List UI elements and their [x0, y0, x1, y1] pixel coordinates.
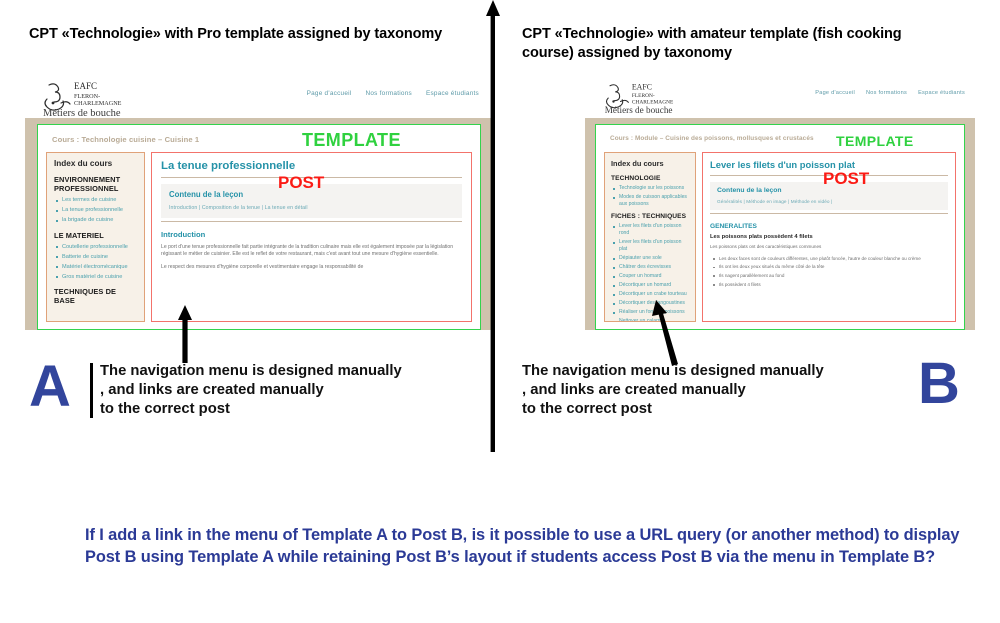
browser-mock-b: EAFC FLERON- CHARLEMAGNE Métiers de bouc…	[585, 76, 975, 336]
course-bar-b: Cours : Module – Cuisine des poissons, m…	[604, 132, 956, 152]
post-bullet-list: Les deux faces sont de couleurs différen…	[710, 256, 948, 289]
lesson-anchor-links[interactable]: Introduction | Composition de la tenue |…	[169, 205, 454, 211]
course-index-sidebar-b[interactable]: Index du cours TECHNOLOGIE Technologie s…	[604, 152, 696, 322]
sidebar-link[interactable]: Matériel électromécanique	[56, 264, 138, 272]
eafc-logo-icon: EAFC FLERON- CHARLEMAGNE Métiers de bouc…	[603, 80, 708, 116]
svg-text:FLERON-: FLERON-	[632, 93, 655, 99]
callout-accent-bar	[90, 363, 93, 418]
site-body-b: Cours : Module – Cuisine des poissons, m…	[585, 118, 975, 330]
sidebar-link[interactable]: Batterie de cuisine	[56, 254, 138, 262]
panel-a-heading: CPT «Technologie» with Pro template assi…	[29, 25, 459, 44]
post-bullet: Ils ont les deux yeux situés du même côt…	[713, 264, 948, 271]
site-header-b: EAFC FLERON- CHARLEMAGNE Métiers de bouc…	[585, 76, 975, 118]
course-index-sidebar-a[interactable]: Index du cours ENVIRONNEMENT PROFESSIONN…	[46, 152, 145, 322]
callout-text-a: The navigation menu is designed manually…	[100, 362, 480, 419]
sidebar-link[interactable]: Couper un homard	[613, 273, 690, 280]
sidebar-group-list[interactable]: Coutellerie professionnelle Batterie de …	[56, 244, 138, 282]
post-content-b: Lever les filets d'un poisson plat POST …	[702, 152, 956, 322]
nav-link-students[interactable]: Espace étudiants	[426, 90, 479, 97]
nav-link-students[interactable]: Espace étudiants	[918, 90, 965, 96]
slide-canvas: CPT «Technologie» with Pro template assi…	[0, 0, 1000, 623]
callout-text-b: The navigation menu is designed manually…	[522, 362, 902, 419]
callout-b-body: The navigation menu is designed manually…	[522, 363, 824, 417]
divider	[710, 213, 948, 214]
svg-text:Métiers de bouche: Métiers de bouche	[605, 105, 673, 115]
nav-link-home[interactable]: Page d'accueil	[307, 90, 352, 97]
site-body-a: Cours : Technologie cuisine – Cuisine 1 …	[25, 118, 493, 330]
sidebar-link[interactable]: La tenue professionnelle	[56, 207, 138, 215]
svg-text:EAFC: EAFC	[632, 82, 652, 91]
course-title-b: Cours : Module – Cuisine des poissons, m…	[610, 135, 814, 142]
nav-link-trainings[interactable]: Nos formations	[365, 90, 411, 97]
post-bullet: Ils nagent parallèlement au fond	[713, 273, 948, 280]
callout-arrow-b-icon	[648, 300, 692, 366]
panel-b-heading: CPT «Technologie» with amateur template …	[522, 25, 947, 63]
sidebar-link[interactable]: Technologie sur les poissons	[613, 185, 690, 192]
site-topnav-a[interactable]: Page d'accueil Nos formations Espace étu…	[307, 90, 479, 97]
sidebar-title-b: Index du cours	[611, 159, 690, 168]
sidebar-group-title: TECHNOLOGIE	[611, 175, 690, 182]
sidebar-link[interactable]: Décortiquer un crabe tourteau	[613, 291, 690, 298]
sidebar-group-title: LE MATERIEL	[54, 231, 138, 240]
post-paragraph: Le respect des mesures d'hygiène corpore…	[161, 264, 462, 271]
sidebar-group-list[interactable]: Technologie sur les poissons Modes de cu…	[613, 185, 690, 208]
sidebar-group-list[interactable]: Les termes de cuisine La tenue professio…	[56, 197, 138, 225]
site-header-a: EAFC FLERON- CHARLEMAGNE Métiers de bouc…	[25, 76, 493, 118]
post-bullet: Ils possèdent 4 filets	[713, 282, 948, 289]
template-frame-a: Cours : Technologie cuisine – Cuisine 1 …	[37, 124, 481, 330]
sidebar-link[interactable]: la brigade de cuisine	[56, 217, 138, 225]
post-title-a: La tenue professionnelle	[161, 160, 462, 172]
question-text: If I add a link in the menu of Template …	[85, 524, 965, 568]
post-annotation-b: POST	[823, 170, 869, 187]
post-section-subheading: Les poissons plats possèdent 4 filets	[710, 234, 948, 240]
label-letter-a: A	[29, 358, 71, 416]
eafc-logo-icon: EAFC FLERON- CHARLEMAGNE Métiers de bouc…	[41, 79, 161, 119]
sidebar-link[interactable]: Les termes de cuisine	[56, 197, 138, 205]
sidebar-group-title: FICHES : TECHNIQUES	[611, 213, 690, 220]
nav-link-home[interactable]: Page d'accueil	[815, 90, 855, 96]
template-annotation-a: TEMPLATE	[302, 131, 401, 149]
sidebar-group-title: ENVIRONNEMENT PROFESSIONNEL	[54, 175, 138, 193]
svg-text:EAFC: EAFC	[74, 81, 97, 91]
sidebar-group-title: TECHNIQUES DE BASE	[54, 287, 138, 305]
post-section-heading: Introduction	[161, 230, 462, 239]
sidebar-link[interactable]: Modes de cuisson applicables aux poisson…	[613, 194, 690, 208]
sidebar-title-a: Index du cours	[54, 159, 138, 168]
course-bar-a: Cours : Technologie cuisine – Cuisine 1 …	[46, 132, 472, 152]
post-paragraph: Le port d'une tenue professionnelle fait…	[161, 244, 462, 259]
post-paragraph: Les poissons plats ont des caractéristiq…	[710, 244, 948, 251]
callout-a-body: The navigation menu is designed manually…	[100, 363, 402, 417]
nav-link-trainings[interactable]: Nos formations	[866, 90, 907, 96]
post-bullet: Les deux faces sont de couleurs différen…	[713, 256, 948, 263]
template-annotation-b: TEMPLATE	[836, 132, 914, 150]
svg-text:CHARLEMAGNE: CHARLEMAGNE	[74, 100, 122, 107]
divider	[161, 221, 462, 222]
sidebar-link[interactable]: Décortiquer un homard	[613, 282, 690, 289]
sidebar-link[interactable]: Gros matériel de cuisine	[56, 274, 138, 282]
page-a: Cours : Technologie cuisine – Cuisine 1 …	[37, 124, 481, 330]
callout-arrow-a-icon	[176, 305, 194, 363]
lesson-anchor-links[interactable]: Généralités | Méthode en image | Méthode…	[717, 199, 941, 204]
sidebar-link[interactable]: Lever les filets d'un poisson rond	[613, 223, 690, 237]
site-topnav-b[interactable]: Page d'accueil Nos formations Espace étu…	[815, 90, 965, 96]
sidebar-link[interactable]: Dépiauter une sole	[613, 255, 690, 262]
sidebar-link[interactable]: Coutellerie professionnelle	[56, 244, 138, 252]
svg-text:FLERON-: FLERON-	[74, 93, 100, 100]
browser-mock-a: EAFC FLERON- CHARLEMAGNE Métiers de bouc…	[25, 76, 493, 336]
lesson-box-title: Contenu de la leçon	[717, 187, 941, 194]
course-title-a: Cours : Technologie cuisine – Cuisine 1	[52, 135, 199, 144]
sidebar-link[interactable]: Lever les filets d'un poisson plat	[613, 239, 690, 253]
sidebar-link[interactable]: Châtrer des écrevisses	[613, 264, 690, 271]
post-section-heading: GENERALITES	[710, 223, 948, 230]
label-letter-b: B	[918, 355, 960, 413]
vertical-divider-arrow-icon	[482, 0, 504, 452]
post-annotation-a: POST	[278, 174, 324, 191]
post-content-a: La tenue professionnelle POST Contenu de…	[151, 152, 472, 322]
